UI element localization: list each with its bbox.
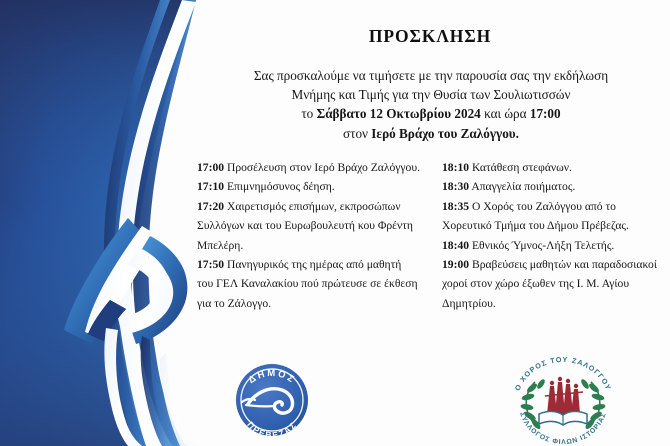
- intro-line-3-mid: και ώρα: [481, 106, 530, 121]
- intro-line-4: στον Ιερό Βράχο του Ζαλόγγου.: [200, 124, 662, 143]
- program-entry-time: 18:35: [442, 200, 469, 213]
- program-entry: 17:20 Χαιρετισμός επισήμων, εκπροσώπων Σ…: [197, 197, 420, 255]
- program-column-left: 17:00 Προσέλευση στον Ιερό Βράχο Ζαλόγγο…: [197, 158, 420, 313]
- program-column-right: 18:10 Κατάθεση στεφάνων. 18:30 Απαγγελία…: [442, 158, 665, 313]
- syllogos-filon-istorias-seal: Ο ΧΟΡΟΣ ΤΟΥ ΖΑΛΟΓΓΟΥ ΣΥΛΛΟΓΟΣ ΦΙΛΩΝ ΙΣΤΟ…: [505, 356, 621, 444]
- program-entry-text: Χαιρετισμός επισήμων, εκπροσώπων Συλλόγω…: [197, 200, 413, 252]
- invitation-intro: Σας προσκαλούμε να τιμήσετε με την παρου…: [200, 66, 662, 143]
- dancing-figures-icon: [545, 377, 583, 414]
- program-entry: 18:30 Απαγγελία ποιήματος.: [442, 177, 665, 196]
- intro-line-1: Σας προσκαλούμε να τιμήσετε με την παρου…: [200, 66, 662, 85]
- intro-line-4-prefix: στον: [343, 126, 371, 141]
- program-entry-text: Ο Χορός του Ζαλόγγου από το Χορευτικό Τμ…: [442, 200, 629, 232]
- invitation-poster: ΠΡΟΣΚΛΗΣΗ Σας προσκαλούμε να τιμήσετε με…: [0, 0, 670, 446]
- intro-line-3: το Σάββατο 12 Οκτωβρίου 2024 και ώρα 17:…: [200, 104, 662, 123]
- program-entry: 17:50 Πανηγυρικός της ημέρας από μαθητή …: [197, 255, 420, 313]
- program-entry: 18:10 Κατάθεση στεφάνων.: [442, 158, 665, 177]
- program-entry-text: Εθνικός Ύμνος-Λήξη Τελετής.: [472, 239, 614, 252]
- page-title: ΠΡΟΣΚΛΗΣΗ: [200, 26, 660, 47]
- program-entry: 17:10 Επιμνημόσυνος δέηση.: [197, 177, 420, 196]
- program-entry: 17:00 Προσέλευση στον Ιερό Βράχο Ζαλόγγο…: [197, 158, 420, 177]
- program-entry-time: 18:10: [442, 161, 469, 174]
- event-time: 17:00: [530, 106, 561, 121]
- program-entry-time: 17:00: [197, 161, 224, 174]
- program-entry: 18:40 Εθνικός Ύμνος-Λήξη Τελετής.: [442, 236, 665, 255]
- program-schedule: 17:00 Προσέλευση στον Ιερό Βράχο Ζαλόγγο…: [197, 158, 665, 313]
- program-entry-text: Απαγγελία ποιήματος.: [471, 180, 575, 193]
- event-date: Σάββατο 12 Οκτωβρίου 2024: [317, 106, 481, 121]
- intro-line-3-prefix: το: [301, 106, 316, 121]
- dimos-prevezas-seal: ΔΗΜΟΣ ΠΡΕΒΕΖΑΣ: [224, 358, 320, 442]
- program-entry-time: 17:10: [197, 180, 224, 193]
- program-entry-time: 19:00: [442, 258, 469, 271]
- program-entry-text: Κατάθεση στεφάνων.: [472, 161, 572, 174]
- program-entry-text: Βραβεύσεις μαθητών και παραδοσιακοί χορο…: [442, 258, 657, 310]
- program-entry-time: 17:20: [197, 200, 224, 213]
- program-entry: 19:00 Βραβεύσεις μαθητών και παραδοσιακο…: [442, 255, 665, 313]
- intro-line-2: Μνήμης και Τιμής για την Θυσία των Σουλι…: [200, 85, 662, 104]
- program-entry-text: Πανηγυρικός της ημέρας από μαθητή του ΓΕ…: [197, 258, 418, 310]
- seal-top-text: Ο ΧΟΡΟΣ ΤΟΥ ΖΑΛΟΓΓΟΥ: [513, 356, 614, 392]
- decorative-blue-ribbon-panel: [0, 0, 200, 446]
- event-location: Ιερό Βράχο του Ζαλόγγου.: [371, 126, 519, 141]
- program-entry-text: Προσέλευση στον Ιερό Βράχο Ζαλόγγου.: [227, 161, 420, 174]
- program-entry-text: Επιμνημόσυνος δέηση.: [227, 180, 335, 193]
- program-entry-time: 17:50: [197, 258, 224, 271]
- program-entry-time: 18:40: [442, 239, 469, 252]
- program-entry-time: 18:30: [442, 180, 469, 193]
- program-entry: 18:35 Ο Χορός του Ζαλόγγου από το Χορευτ…: [442, 197, 665, 236]
